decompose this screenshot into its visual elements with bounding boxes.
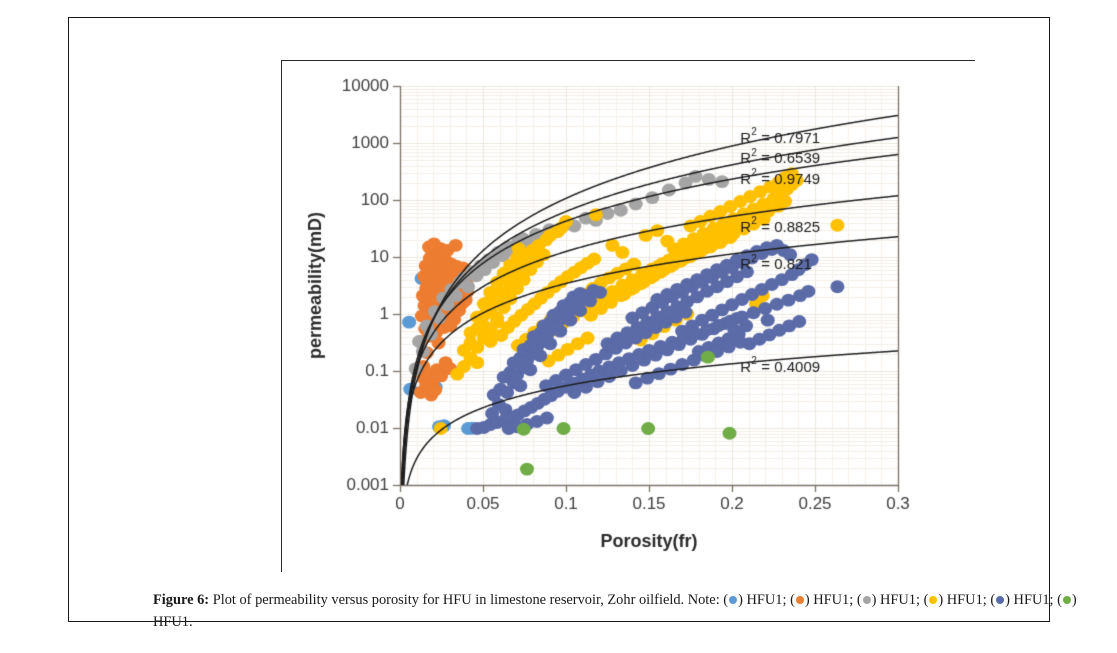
legend-dot xyxy=(729,596,737,604)
legend-dot xyxy=(929,596,937,604)
legend-dot xyxy=(796,596,804,604)
legend-dot xyxy=(996,596,1004,604)
page-border: Figure 6: Plot of permeability versus po… xyxy=(68,17,1050,622)
legend-dot xyxy=(863,596,871,604)
figure-caption-text: Plot of permeability versus porosity for… xyxy=(209,592,723,608)
chart-container xyxy=(281,60,975,572)
legend-dot xyxy=(1063,596,1071,604)
figure-caption: Figure 6: Plot of permeability versus po… xyxy=(153,590,1103,633)
figure-page: Figure 6: Plot of permeability versus po… xyxy=(0,0,1117,653)
permeability-porosity-scatter-chart[interactable] xyxy=(282,61,976,573)
figure-label: Figure 6: xyxy=(153,592,209,608)
